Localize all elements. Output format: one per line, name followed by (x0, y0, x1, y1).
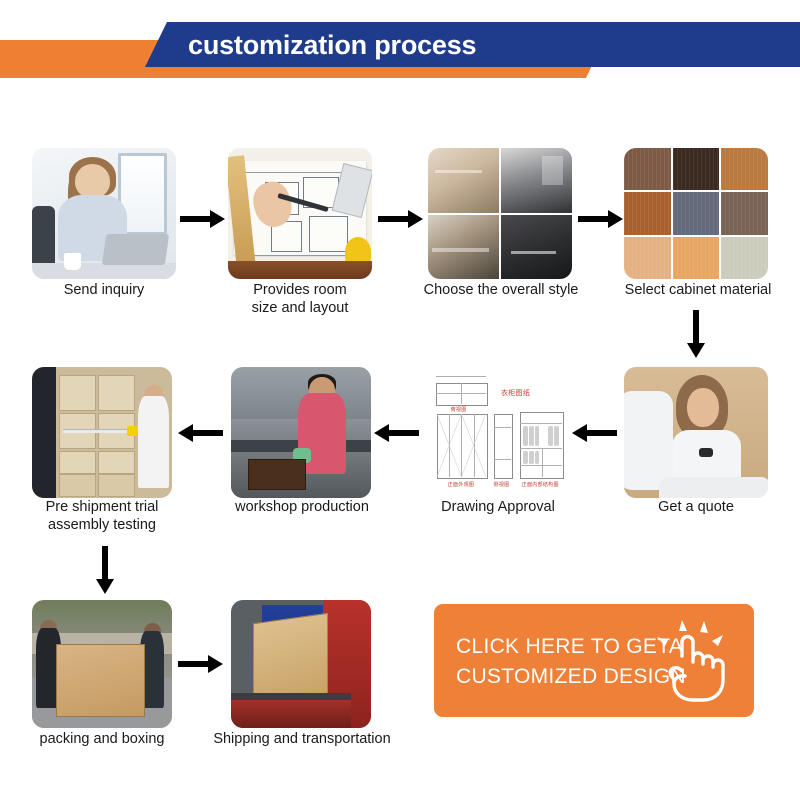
cta-customized-design-button[interactable]: CLICK HERE TO GETA CUSTOMIZED DESIGN (434, 604, 754, 717)
pointing-hand-click-icon (646, 618, 738, 706)
sales-phone-call-photo (624, 367, 768, 498)
swatch-light-peach[interactable] (624, 237, 671, 279)
step-tile-send-inquiry[interactable] (32, 148, 176, 279)
cad-drawing-approval: 俯视图 衣柜图纸 正面外观图 侧视图 正面内部结构图 (424, 367, 572, 498)
step-label-drawing-approval: Drawing Approval (414, 498, 582, 516)
container-loading-photo (231, 600, 371, 728)
cad-note-title: 衣柜图纸 (501, 388, 530, 398)
swatch-golden-oak[interactable] (721, 148, 768, 190)
step-label-pre-shipment-trial: Pre shipment trial assembly testing (20, 498, 184, 534)
swatch-medium-walnut[interactable] (624, 148, 671, 190)
style-thumb-hallway (501, 148, 572, 213)
packing-crate-photo (32, 600, 172, 728)
step-tile-workshop-production[interactable] (231, 367, 371, 498)
trial-assembly-photo (32, 367, 172, 498)
arrow-down-2 (95, 546, 115, 594)
page-header-banner: customization process (0, 0, 800, 100)
arrow-left-3 (178, 423, 223, 443)
arrow-left-1 (572, 423, 617, 443)
cad-note-interior: 正面内部结构图 (522, 481, 559, 488)
swatch-taupe-brown[interactable] (721, 192, 768, 234)
step-tile-packing-and-boxing[interactable] (32, 600, 172, 728)
material-swatch-grid (624, 148, 768, 279)
arrow-right-1 (180, 209, 225, 229)
style-thumb-dark-kitchen (501, 215, 572, 280)
step-tile-provides-room-size[interactable] (228, 148, 372, 279)
step-label-shipping-transportation: Shipping and transportation (196, 730, 408, 748)
arrow-right-3 (578, 209, 623, 229)
step-tile-select-cabinet-material[interactable] (624, 148, 768, 279)
blueprint-floorplan-photo (228, 148, 372, 279)
step-label-send-inquiry: Send inquiry (22, 281, 186, 299)
office-desk-photo (32, 148, 176, 279)
step-tile-pre-shipment-trial[interactable] (32, 367, 172, 498)
step-tile-drawing-approval[interactable]: 俯视图 衣柜图纸 正面外观图 侧视图 正面内部结构图 (424, 367, 572, 498)
step-label-select-cabinet-material: Select cabinet material (608, 281, 788, 299)
step-tile-get-a-quote[interactable] (624, 367, 768, 498)
swatch-slate-gray[interactable] (673, 192, 720, 234)
factory-workshop-photo (231, 367, 371, 498)
interior-style-collage (428, 148, 572, 279)
step-label-packing-and-boxing: packing and boxing (22, 730, 182, 748)
swatch-warm-amber[interactable] (673, 237, 720, 279)
arrow-right-4 (178, 654, 223, 674)
cad-note-front: 正面外观图 (448, 481, 475, 488)
arrow-left-2 (374, 423, 419, 443)
swatch-pale-sage[interactable] (721, 237, 768, 279)
cad-note-plan: 俯视图 (451, 406, 467, 413)
step-label-provides-room-size: Provides room size and layout (218, 281, 382, 317)
page-title: customization process (188, 28, 476, 62)
arrow-down-1 (686, 310, 706, 358)
step-tile-choose-overall-style[interactable] (428, 148, 572, 279)
arrow-right-2 (378, 209, 423, 229)
step-label-get-a-quote: Get a quote (616, 498, 776, 516)
step-label-choose-overall-style: Choose the overall style (410, 281, 592, 299)
cad-note-side: 侧视图 (494, 481, 510, 488)
step-tile-shipping-transportation[interactable] (231, 600, 371, 728)
swatch-dark-espresso[interactable] (673, 148, 720, 190)
swatch-copper-teak[interactable] (624, 192, 671, 234)
style-thumb-bedroom (428, 148, 499, 213)
style-thumb-kitchen-island (428, 215, 499, 280)
step-label-workshop-production: workshop production (216, 498, 388, 516)
